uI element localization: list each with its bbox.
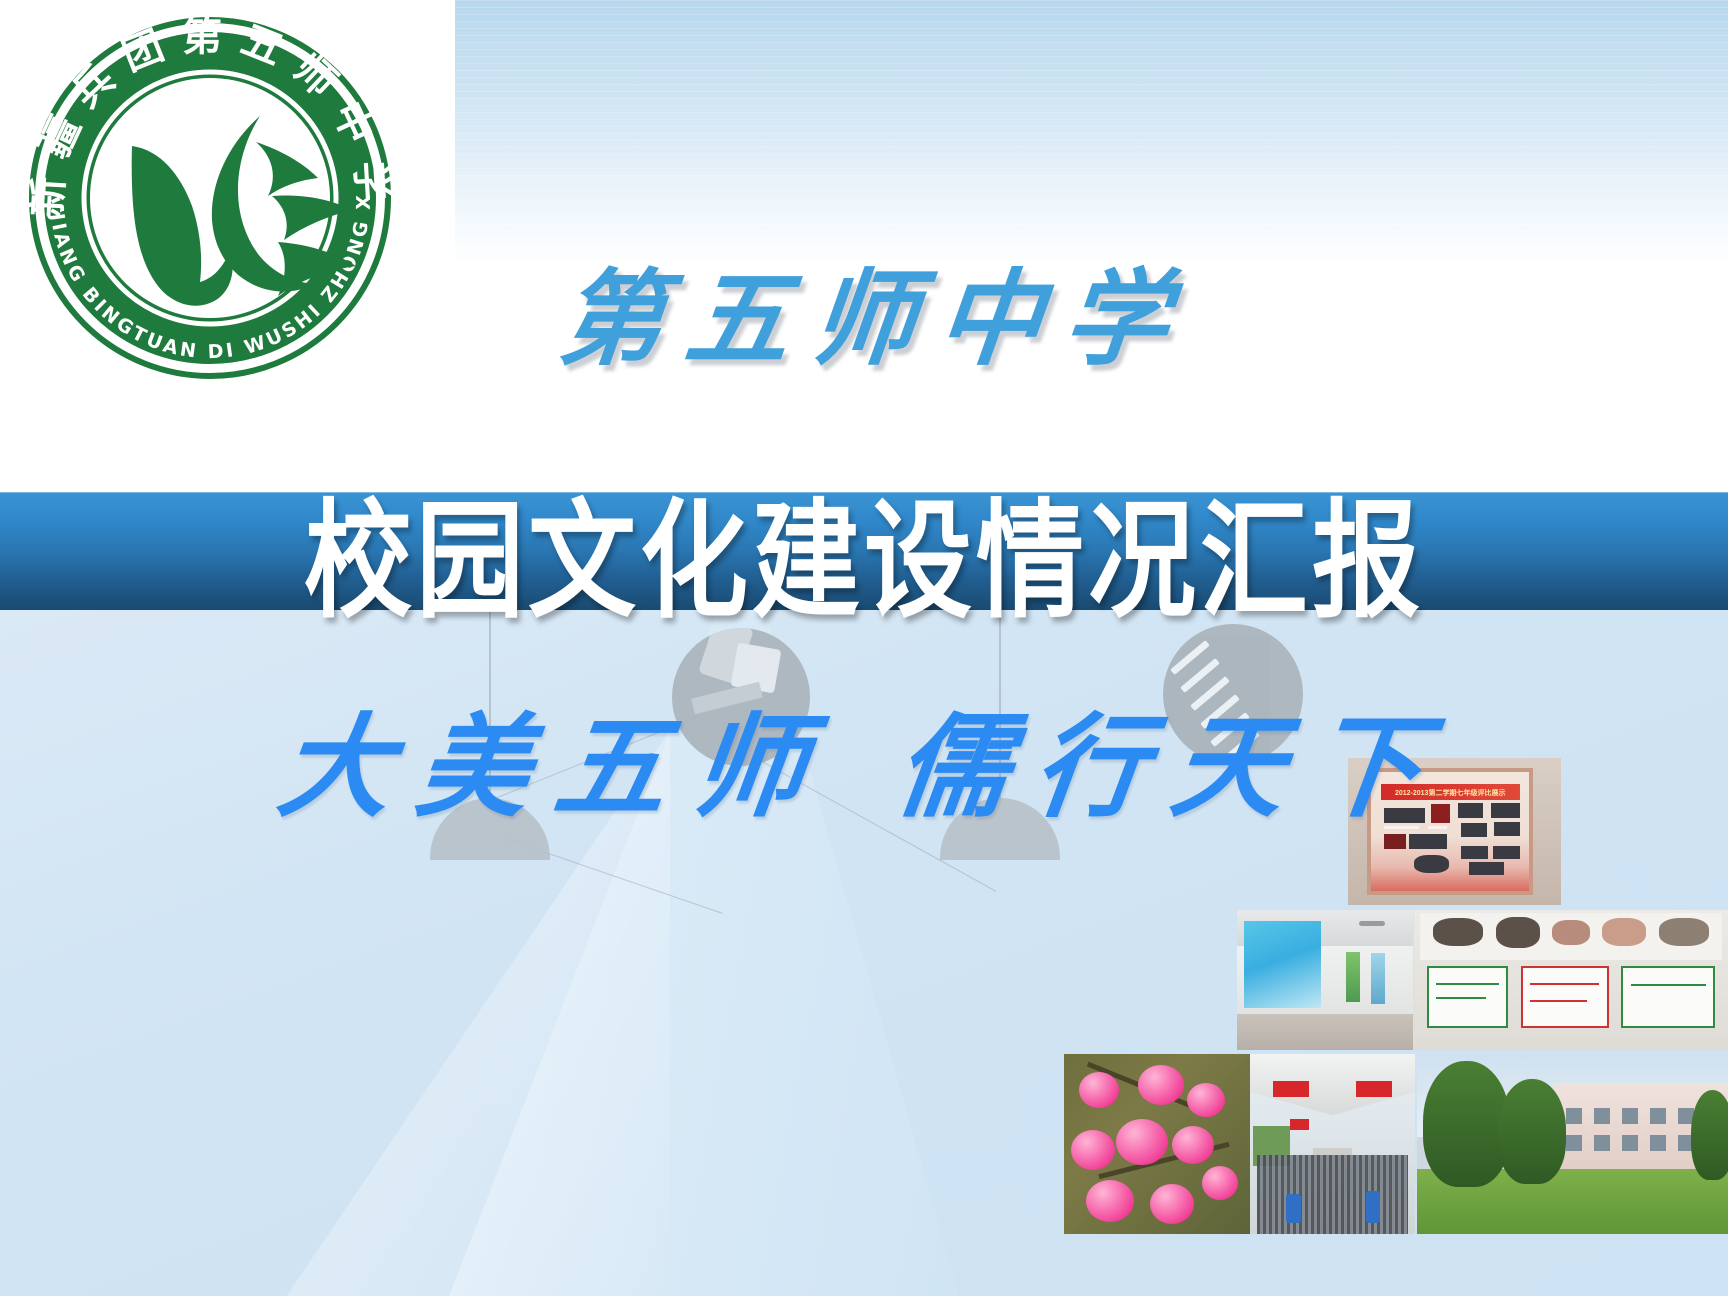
chart-line bbox=[1436, 983, 1499, 985]
artwork bbox=[1659, 918, 1709, 946]
board-photo bbox=[1461, 846, 1488, 859]
photo-student-works-display-wall bbox=[1414, 910, 1728, 1050]
wall-panel bbox=[1371, 953, 1385, 1003]
blossom bbox=[1202, 1166, 1238, 1200]
building-window bbox=[1594, 1108, 1610, 1124]
board-photo bbox=[1469, 862, 1504, 875]
school-name-title: 第五师中学 bbox=[554, 258, 1197, 380]
display-chart bbox=[1521, 966, 1609, 1028]
wall-poster bbox=[1244, 921, 1321, 1008]
blossom bbox=[1071, 1130, 1115, 1170]
photo-campus-blossoms bbox=[1064, 1054, 1250, 1234]
blossom bbox=[1172, 1126, 1214, 1164]
title-banner: 校园文化建设情况汇报 bbox=[0, 492, 1728, 610]
building-window bbox=[1566, 1108, 1582, 1124]
building-window bbox=[1650, 1108, 1666, 1124]
person bbox=[1366, 1191, 1381, 1223]
blossom bbox=[1079, 1072, 1119, 1108]
ceiling-fan-icon bbox=[1359, 921, 1385, 926]
chart-line bbox=[1530, 1000, 1587, 1002]
blossom bbox=[1150, 1184, 1194, 1224]
building-window bbox=[1622, 1108, 1638, 1124]
board-photo bbox=[1384, 834, 1406, 849]
photo-bicycle-shed bbox=[1250, 1054, 1415, 1234]
artwork bbox=[1602, 918, 1646, 946]
slogan-text: 大美五师 儒行天下 bbox=[0, 706, 1728, 830]
artwork bbox=[1433, 918, 1483, 946]
tree bbox=[1498, 1079, 1566, 1183]
header-gradient-panel bbox=[455, 0, 1728, 264]
board-photo bbox=[1409, 834, 1447, 849]
red-sign bbox=[1290, 1119, 1310, 1130]
building-window bbox=[1622, 1135, 1638, 1151]
tree bbox=[1691, 1090, 1728, 1180]
red-sign bbox=[1356, 1081, 1392, 1097]
floor bbox=[1237, 1014, 1413, 1050]
banner-title-text: 校园文化建设情况汇报 bbox=[0, 486, 1728, 639]
blossom bbox=[1116, 1119, 1168, 1165]
board-photo bbox=[1493, 846, 1520, 859]
chart-line bbox=[1631, 984, 1706, 986]
building-window bbox=[1566, 1135, 1582, 1151]
blossom bbox=[1187, 1083, 1225, 1117]
school-logo: 新疆兵团第五师中学 XIN JIANG BINGTUAN DI WUSHI ZH… bbox=[10, 0, 410, 398]
parked-bicycles bbox=[1257, 1155, 1409, 1234]
blossom bbox=[1086, 1180, 1134, 1222]
red-sign bbox=[1273, 1081, 1309, 1097]
chart-line bbox=[1530, 983, 1599, 985]
board-photo bbox=[1414, 855, 1449, 873]
photo-corridor-culture-wall bbox=[1237, 910, 1413, 1050]
person bbox=[1286, 1194, 1301, 1223]
building-window bbox=[1594, 1135, 1610, 1151]
display-chart bbox=[1621, 966, 1715, 1028]
blossom bbox=[1138, 1065, 1184, 1105]
chart-line bbox=[1436, 997, 1486, 999]
presentation-title-slide: 2012-2013第二学期七年级评比展示 bbox=[0, 0, 1728, 1296]
building-window bbox=[1650, 1135, 1666, 1151]
photo-campus-building-lawn bbox=[1417, 1054, 1728, 1234]
artwork bbox=[1496, 917, 1540, 948]
wall-panel bbox=[1346, 952, 1360, 1002]
artwork bbox=[1552, 920, 1590, 945]
